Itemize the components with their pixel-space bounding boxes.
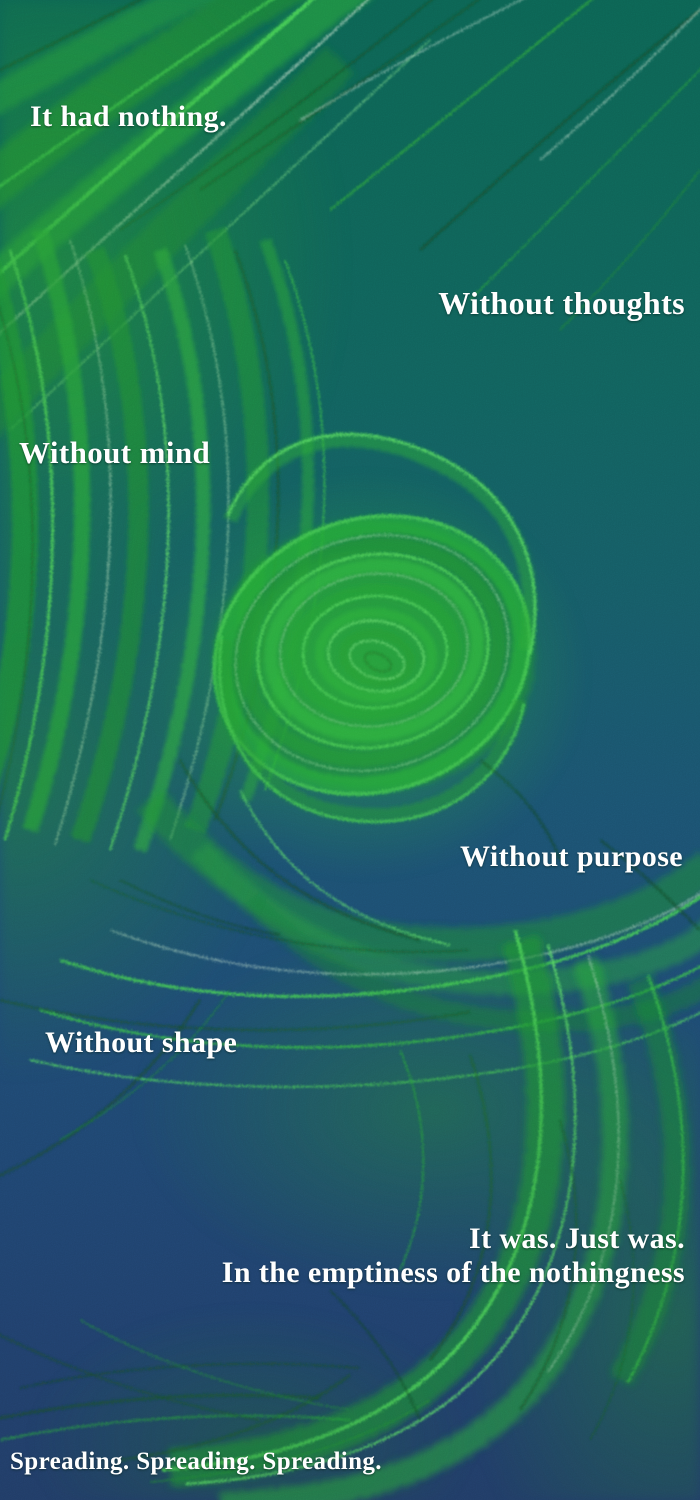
caption-it-had-nothing: It had nothing. xyxy=(30,100,227,134)
stroke-group-left-fine xyxy=(0,240,324,860)
caption-it-was-just-was: It was. Just was. xyxy=(469,1222,685,1255)
stroke-group-upper-filaments xyxy=(0,0,700,430)
stroke-group-upper-bands xyxy=(0,0,380,470)
caption-spreading: Spreading. Spreading. Spreading. xyxy=(10,1448,382,1476)
stroke-group-bottom-arc xyxy=(170,940,677,1500)
caption-without-thoughts: Without thoughts xyxy=(438,286,685,322)
caption-without-shape: Without shape xyxy=(45,1026,237,1060)
caption-closing-block: It was. Just was. In the emptiness of th… xyxy=(222,1222,685,1289)
stroke-group-s-curve xyxy=(150,800,700,1022)
caption-without-purpose: Without purpose xyxy=(460,840,683,874)
artwork-canvas: It had nothing. Without thoughts Without… xyxy=(0,0,700,1500)
caption-without-mind: Without mind xyxy=(19,436,210,471)
caption-in-the-emptiness: In the emptiness of the nothingness xyxy=(222,1256,685,1290)
stroke-group-left-strands xyxy=(0,230,308,850)
central-vortex-spiral xyxy=(175,434,569,837)
stroke-group-bottom-arc-fine xyxy=(120,930,683,1484)
